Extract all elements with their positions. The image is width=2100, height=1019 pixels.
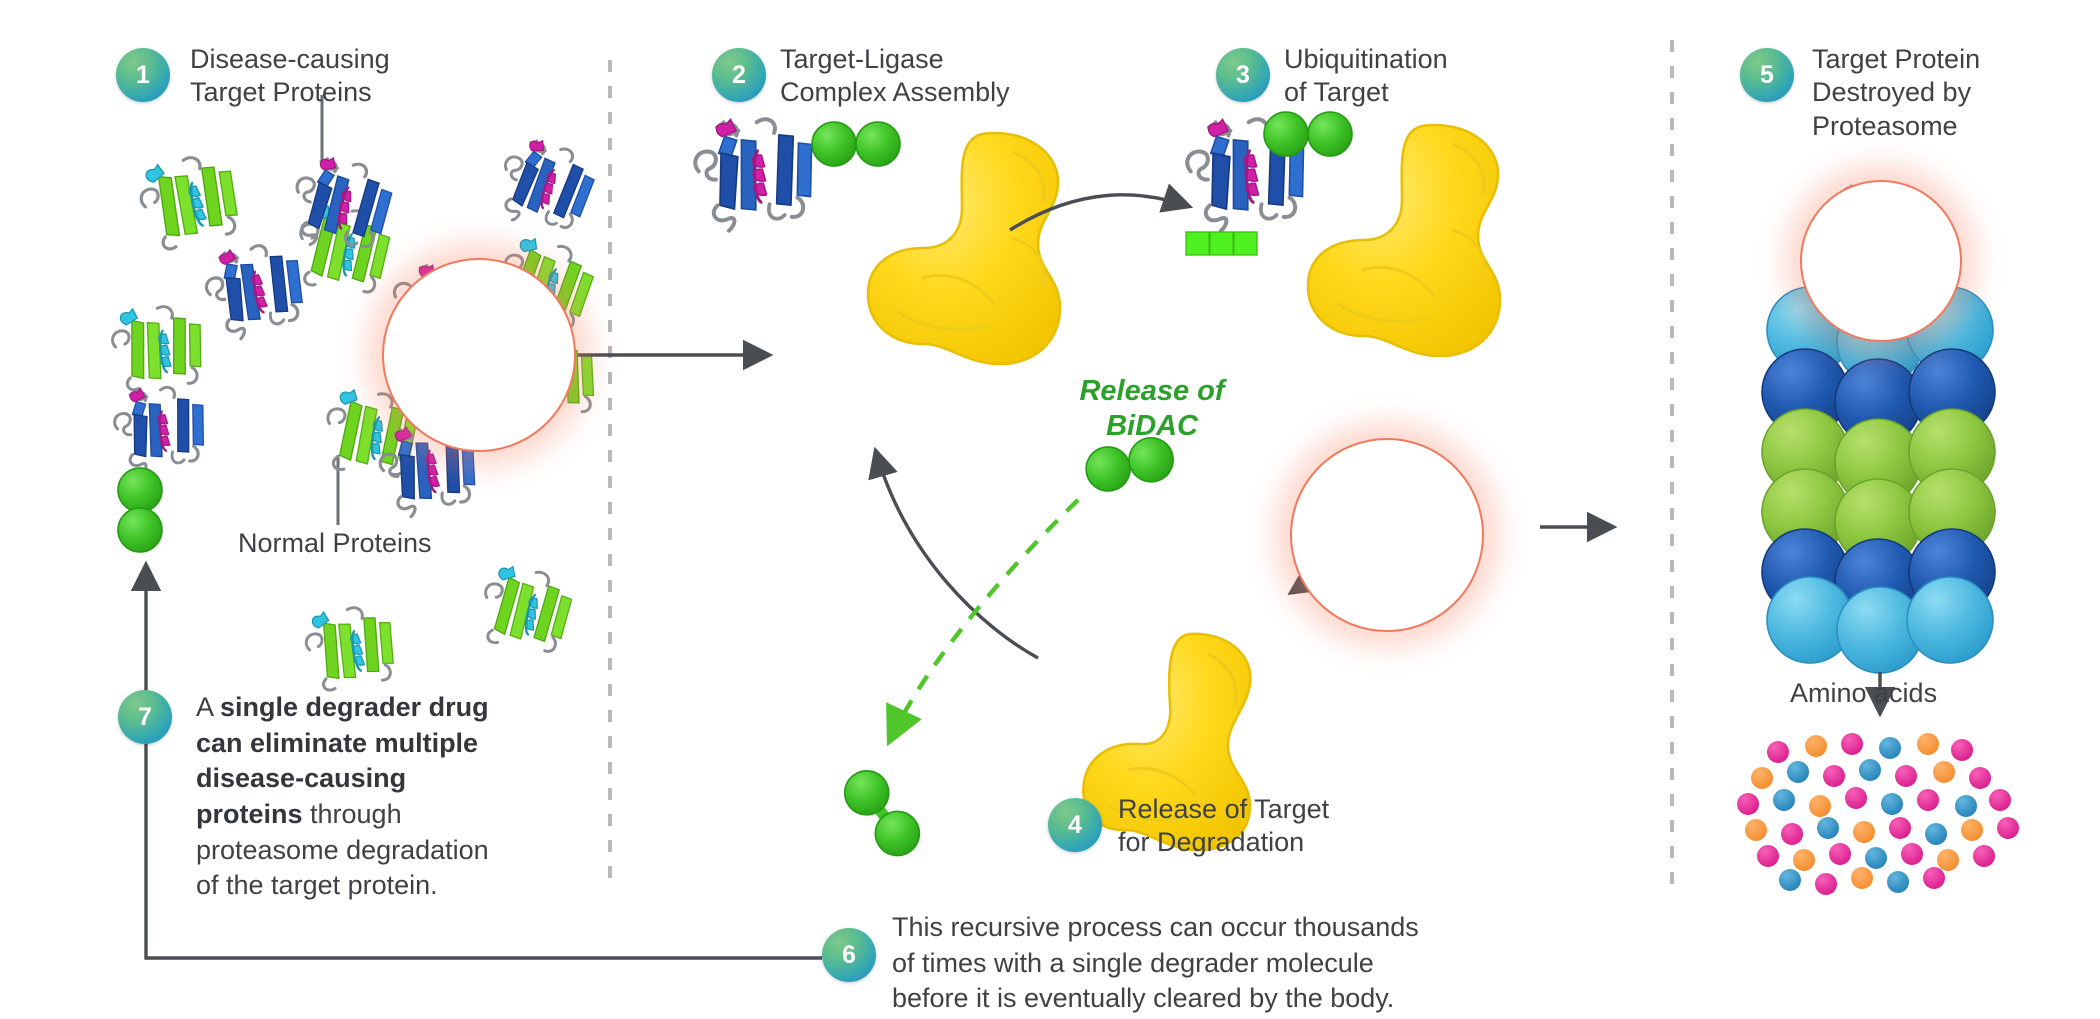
step-label-4-line1: Release of Target <box>1118 793 1329 826</box>
step-label-2-line1: Target-Ligase <box>780 43 1010 76</box>
normal-proteins-label: Normal Proteins <box>238 528 432 559</box>
step-label-3-line2: of Target <box>1284 76 1448 109</box>
step-label-5-line2: Destroyed by <box>1812 76 1980 109</box>
proteasome-barrel <box>1762 287 1995 673</box>
step-7-prefix: A <box>196 692 220 722</box>
step-label-5-line1: Target Protein <box>1812 43 1980 76</box>
step-6-text: This recursive process can occur thousan… <box>892 910 1452 1017</box>
amino-acid-particles <box>1737 733 2019 895</box>
step-label-1: Disease-causing Target Proteins <box>190 43 390 110</box>
step-label-1-line2: Target Proteins <box>190 76 390 109</box>
step-label-5: Target Protein Destroyed by Proteasome <box>1812 43 1980 143</box>
step-label-3: Ubiquitination of Target <box>1284 43 1448 110</box>
step-badge-2[interactable]: 2 <box>712 48 766 102</box>
step-label-1-line1: Disease-causing <box>190 43 390 76</box>
step-badge-7[interactable]: 7 <box>118 690 172 744</box>
step-label-2: Target-Ligase Complex Assembly <box>780 43 1010 110</box>
halo-circle-target-bidac <box>382 258 576 452</box>
bidac-recycled <box>837 768 927 858</box>
release-of-bidac-line1: Release of <box>1042 374 1262 409</box>
arrow-recycle-curve <box>876 452 1038 658</box>
step-label-4-line2: for Degradation <box>1118 826 1329 859</box>
bound-target-bidac-left <box>111 382 209 552</box>
ubiquitinated-complex-3 <box>1184 112 1500 356</box>
step-badge-3[interactable]: 3 <box>1216 48 1270 102</box>
step-label-3-line1: Ubiquitination <box>1284 43 1448 76</box>
step-6-line3: before it is eventually cleared by the b… <box>892 981 1452 1017</box>
step-label-4: Release of Target for Degradation <box>1118 793 1329 860</box>
release-of-bidac-label: Release of BiDAC <box>1042 374 1262 444</box>
step-badge-6[interactable]: 6 <box>822 928 876 982</box>
step-label-2-line2: Complex Assembly <box>780 76 1010 109</box>
step-7-text: A single degrader drug can eliminate mul… <box>196 690 518 904</box>
halo-circle-proteasome-target <box>1800 180 1962 342</box>
step-label-5-line3: Proteasome <box>1812 110 1980 143</box>
halo-circle-ubiquitinated-target <box>1290 438 1484 632</box>
step-6-line2: of times with a single degrader molecule <box>892 946 1452 982</box>
step-badge-4[interactable]: 4 <box>1048 798 1102 852</box>
amino-acids-label: Amino acids <box>1790 678 1937 709</box>
step-badge-5[interactable]: 5 <box>1740 48 1794 102</box>
step-badge-1[interactable]: 1 <box>116 48 170 102</box>
diagram-canvas: 1 Disease-causing Target Proteins Normal… <box>0 0 2100 1019</box>
ligase-complex-2 <box>692 114 1060 364</box>
release-of-bidac-line2: BiDAC <box>1042 409 1262 444</box>
step-6-line1: This recursive process can occur thousan… <box>892 910 1452 946</box>
